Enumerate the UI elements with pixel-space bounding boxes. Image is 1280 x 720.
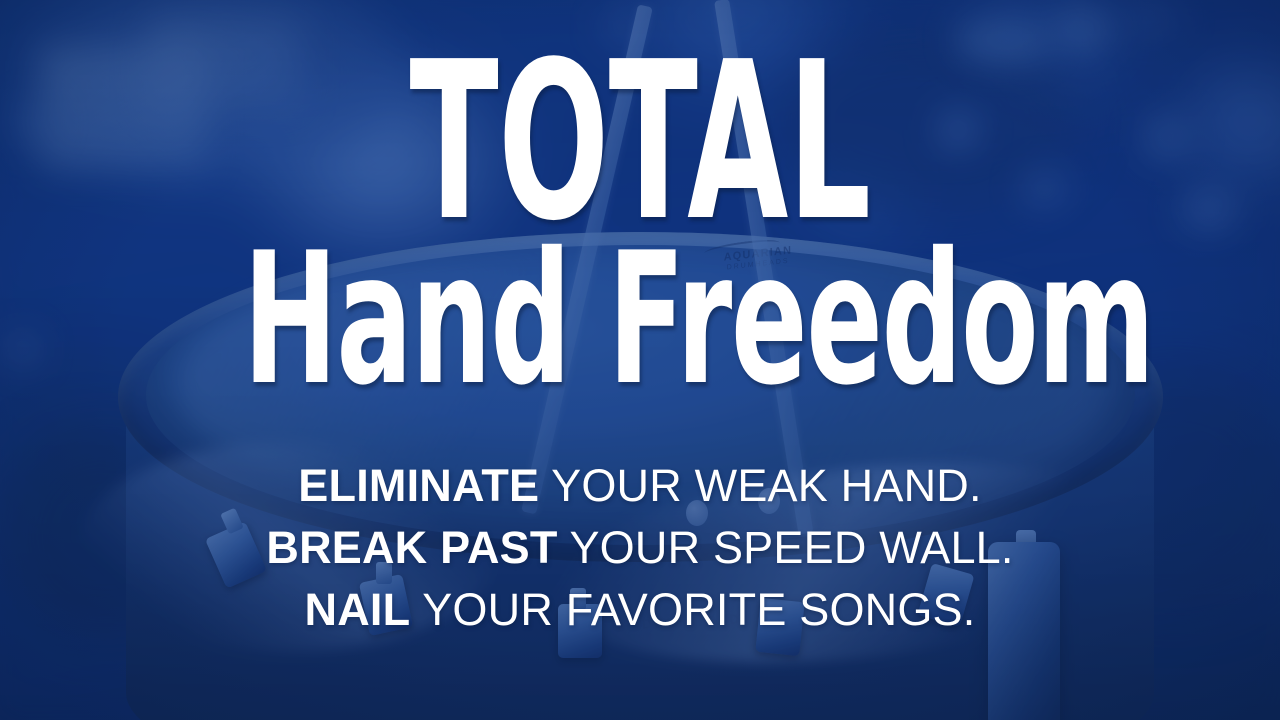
subheadline-rest-2: YOUR SPEED WALL.	[558, 522, 1014, 573]
subheadline-rest-1: YOUR WEAK HAND.	[539, 460, 981, 511]
subheadline-rest-3: YOUR FAVORITE SONGS.	[410, 584, 975, 635]
subheadline-line-3: NAIL YOUR FAVORITE SONGS.	[0, 579, 1280, 641]
subheadline-line-1: ELIMINATE YOUR WEAK HAND.	[0, 455, 1280, 517]
subheadline-emphasis-3: NAIL	[305, 584, 411, 635]
text-layer: TOTAL Hand Freedom ELIMINATE YOUR WEAK H…	[0, 0, 1280, 720]
subheadline-emphasis-1: ELIMINATE	[298, 460, 539, 511]
subheadline-emphasis-2: BREAK PAST	[266, 522, 557, 573]
poster-canvas: AQUARIAN DRUMHEADS DRUMHEAD TOTAL Hand F…	[0, 0, 1280, 720]
subheadline-line-2: BREAK PAST YOUR SPEED WALL.	[0, 517, 1280, 579]
headline-secondary: Hand Freedom	[243, 228, 1037, 410]
subheadline-block: ELIMINATE YOUR WEAK HAND. BREAK PAST YOU…	[0, 455, 1280, 641]
